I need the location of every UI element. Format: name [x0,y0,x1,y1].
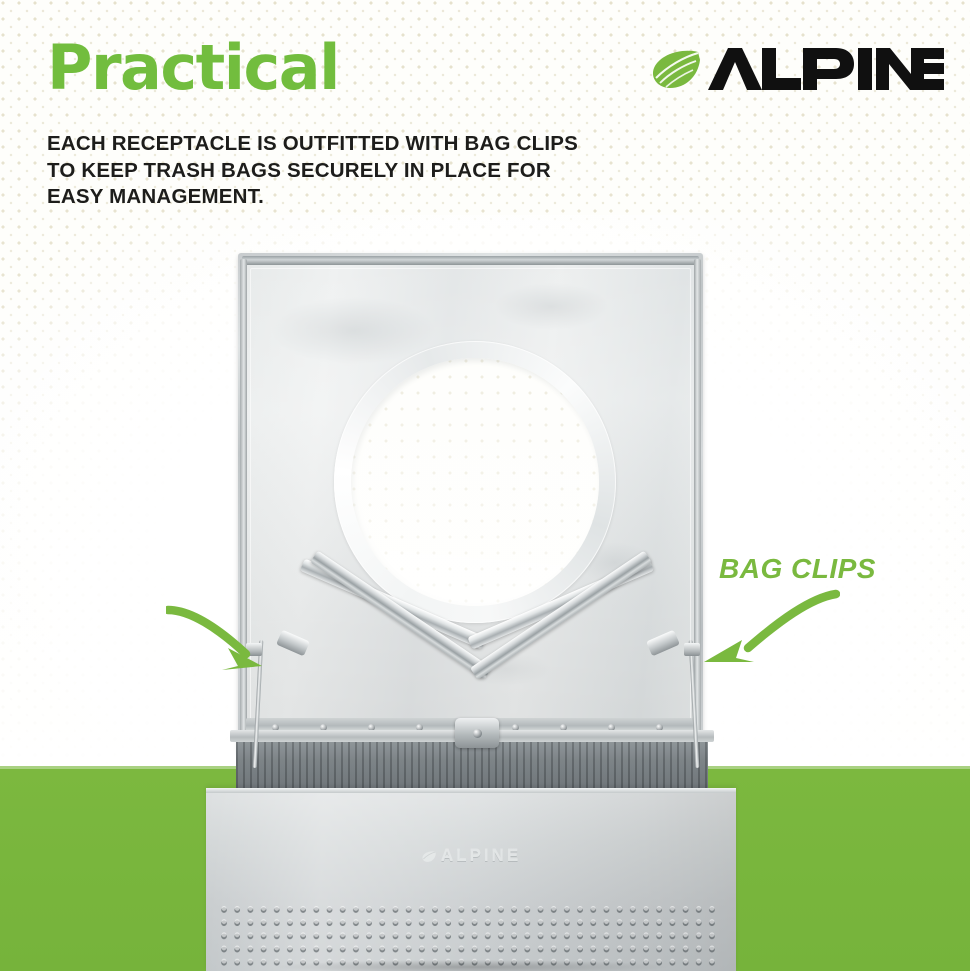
alpine-logo [648,44,944,94]
page-subtitle: EACH RECEPTACLE IS OUTFITTED WITH BAG CL… [47,131,587,211]
leaf-icon [648,46,704,92]
callout-label-bag-clips: BAG CLIPS [719,553,876,585]
curved-arrow-right-icon [166,604,296,689]
alpine-wordmark [708,46,944,92]
page-title: Practical [47,38,339,99]
green-footer-band [0,766,970,971]
curved-arrow-left-icon [690,588,840,693]
poster-canvas: Practical EACH RECEPTACLE IS OUTFITTED W… [0,0,970,971]
